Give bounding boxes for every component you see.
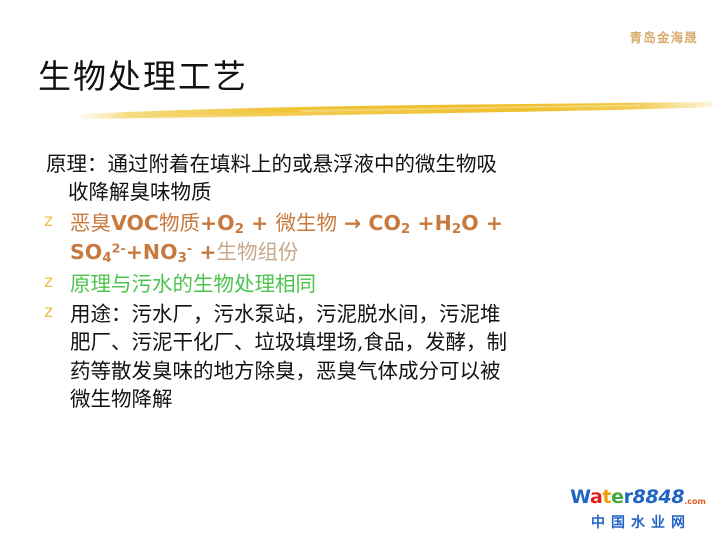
page-title: 生物处理工艺 [38,58,248,96]
paragraph-principle: 原理：通过附着在填料上的或悬浮液中的微生物吸 收降解臭味物质 [40,150,700,207]
watermark-subtitle: 中国水业网 [564,513,712,533]
slide-canvas: 青岛金海晟 生物处理工艺 [0,0,720,540]
equation-term-so4: SO [70,240,102,264]
equation-arrow-icon: → [337,211,368,235]
equation-term-no3: +NO [126,240,178,264]
watermark-letter-r: r [624,486,633,508]
watermark-wordmark: Water8848.com [564,486,712,513]
paragraph-reaction-equation: z 恶臭VOC物质+O2 + 微生物 → CO2 +H2O + SO42-+NO… [40,209,700,268]
bullet-marker-equation: z [44,210,53,233]
equation-term-microbe: 微生物 [275,211,337,235]
equation-term-biomass: 生物组份 [217,240,299,264]
bullet-marker-same-as-wastewater: z [44,271,53,294]
watermark-dotcom: .com [684,497,706,506]
paragraph-same-as-wastewater-line-1: 原理与污水的生物处理相同 [70,270,700,298]
equation-sub-h2o: 2 [452,221,461,237]
watermark-logo: Water8848.com 中国水业网 [564,486,712,534]
paragraph-applications-line-2: 肥厂、污泥干化厂、垃圾填埋场,食品，发酵，制 [70,328,700,356]
equation-plus-1: + [244,211,275,235]
equation-term-odor: 恶臭 [70,211,111,235]
brushstroke-icon [0,98,720,128]
equation-sub-so4: 4 [102,250,111,266]
equation-term-substance: 物质 [159,211,200,235]
paragraph-principle-line-1: 原理：通过附着在填料上的或悬浮液中的微生物吸 [46,150,700,178]
watermark-letter-w: W [570,486,590,508]
equation-term-co2: CO [368,211,400,235]
equation-term-o2: +O [200,211,235,235]
equation-sub-co2: 2 [401,221,410,237]
equation-term-h2o-a: +H [410,211,451,235]
watermark-letter-t: t [602,486,611,508]
equation-sub-o2: 2 [235,221,244,237]
paragraph-applications-line-3: 药等散发臭味的地方除臭，恶臭气体成分可以被 [70,357,700,385]
paragraph-applications-line-4: 微生物降解 [70,385,700,413]
equation-sub-no3: 3 [178,250,187,266]
equation-plus-2: + [192,240,216,264]
watermark-letter-a: a [590,486,602,508]
equation-term-h2o-b: O + [461,211,503,235]
brushstroke-divider [0,98,720,128]
equation-sup-so4: 2- [112,241,126,256]
watermark-letter-e: e [611,486,624,508]
paragraph-principle-line-2: 收降解臭味物质 [46,178,700,206]
bullet-marker-applications: z [44,301,53,324]
paragraph-same-as-wastewater: z 原理与污水的生物处理相同 [40,270,700,298]
corner-brand-label: 青岛金海晟 [629,27,698,46]
equation-line-2: SO42-+NO3- +生物组份 [70,238,700,268]
paragraph-applications-line-1: 用途：污水厂，污水泵站，污泥脱水间，污泥堆 [70,300,700,328]
paragraph-applications: z 用途：污水厂，污水泵站，污泥脱水间，污泥堆 肥厂、污泥干化厂、垃圾填埋场,食… [40,300,700,413]
content-body: 原理：通过附着在填料上的或悬浮液中的微生物吸 收降解臭味物质 z 恶臭VOC物质… [40,150,700,415]
equation-line-1: 恶臭VOC物质+O2 + 微生物 → CO2 +H2O + [70,209,700,239]
watermark-number: 8848 [633,486,685,508]
equation-term-voc: VOC [111,211,159,235]
